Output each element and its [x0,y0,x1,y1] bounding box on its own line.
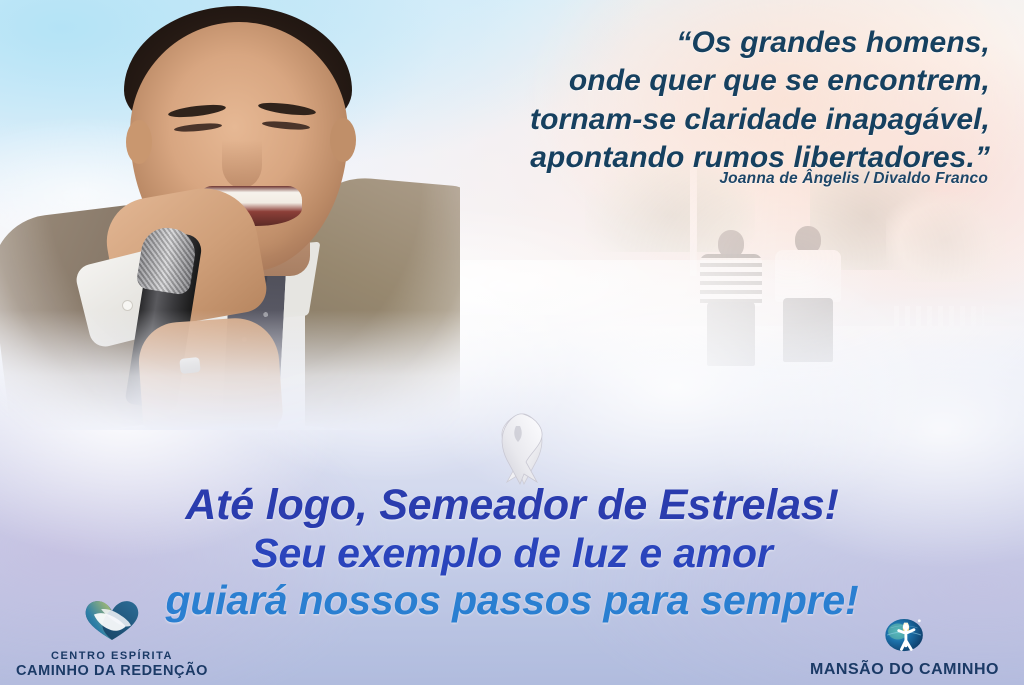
quote-line-1: “Os grandes homens, [330,24,990,62]
quote-attribution: Joanna de Ângelis / Divaldo Franco [719,170,988,188]
quote-line-2: onde quer que se encontrem, [330,62,990,100]
headline-line-2: Seu exemplo de luz e amor [0,533,1024,574]
white-ribbon-icon [487,408,557,486]
portrait-nose [222,140,262,188]
quote-block: “Os grandes homens, onde quer que se enc… [330,24,990,178]
logo-mansao-do-caminho: MANSÃO DO CAMINHO [797,610,1012,679]
logo-centro-espirita: CENTRO ESPÍRITA CAMINHO DA REDENÇÃO [6,600,218,679]
heart-hands-icon [6,600,218,647]
logo-left-line-2: CAMINHO DA REDENÇÃO [6,663,218,679]
portrait-bottom-fade [0,310,460,430]
logo-left-text: CENTRO ESPÍRITA CAMINHO DA REDENÇÃO [6,650,218,679]
quote-line-3: tornam-se claridade inapagável, [330,101,990,139]
logo-right-line-2: MANSÃO DO CAMINHO [797,661,1012,679]
logo-right-text: MANSÃO DO CAMINHO [797,661,1012,679]
headline-line-1: Até logo, Semeador de Estrelas! [0,484,1024,527]
portrait-ear-left [126,120,152,164]
memorial-poster: “Os grandes homens, onde quer que se enc… [0,0,1024,685]
globe-figure-flame-icon [797,610,1012,658]
logo-left-line-1: CENTRO ESPÍRITA [6,650,218,662]
